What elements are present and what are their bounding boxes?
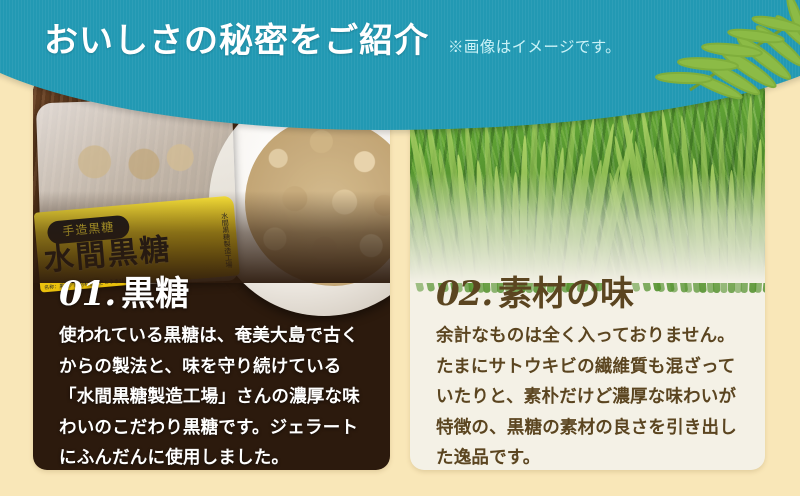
photo-fade-overlay [33, 191, 390, 283]
feature-card-list: 手造黒糖 水間黒糖 水間黒糖製造工場 名称：黒糖／原材料名：さとうきび 01.黒… [0, 0, 800, 496]
card-01-heading: 01.黒糖 [59, 274, 364, 314]
card-02-photo [410, 78, 765, 283]
card-02-body: 02.素材の味 余計なものは全く入っておりません。たまにサトウキビの繊維質も混ざ… [410, 274, 765, 470]
card-02-heading: 02.素材の味 [436, 274, 739, 314]
feature-card-02: 02.素材の味 余計なものは全く入っておりません。たまにサトウキビの繊維質も混ざ… [410, 78, 765, 470]
feature-card-01: 手造黒糖 水間黒糖 水間黒糖製造工場 名称：黒糖／原材料名：さとうきび 01.黒… [33, 78, 390, 470]
card-02-text: 余計なものは全く入っておりません。たまにサトウキビの繊維質も混ざっていたりと、素… [436, 320, 739, 470]
card-01-number: 01. [59, 274, 121, 314]
card-02-number: 02. [436, 274, 498, 314]
card-02-title: 素材の味 [498, 275, 634, 313]
card-01-title: 黒糖 [121, 275, 189, 313]
photo-fade-overlay [410, 173, 765, 283]
card-01-photo: 手造黒糖 水間黒糖 水間黒糖製造工場 名称：黒糖／原材料名：さとうきび [33, 78, 390, 283]
promo-page: 手造黒糖 水間黒糖 水間黒糖製造工場 名称：黒糖／原材料名：さとうきび 01.黒… [0, 0, 800, 496]
card-01-text: 使われている黒糖は、奄美大島で古くからの製法と、味を守り続けている「水間黒糖製造… [59, 320, 364, 470]
card-01-body: 01.黒糖 使われている黒糖は、奄美大島で古くからの製法と、味を守り続けている「… [33, 274, 390, 470]
